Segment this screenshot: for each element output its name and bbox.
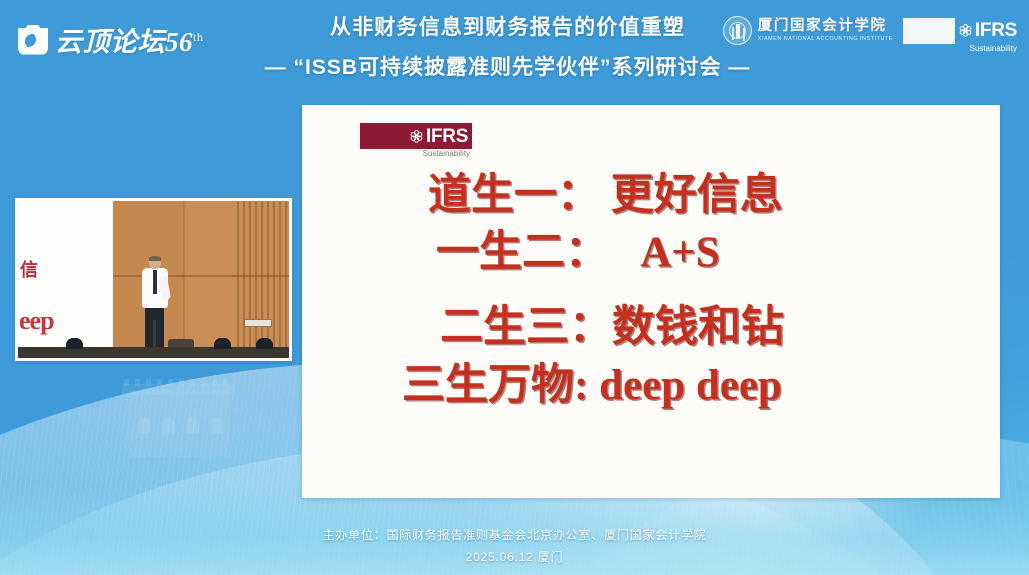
audience-head xyxy=(66,338,83,349)
presentation-video-thumbnail[interactable]: 信 eep xyxy=(15,198,292,361)
presentation-slide: IFRS Sustainability 道生一： 更好信息 一生二： A+S 二… xyxy=(302,105,1000,498)
ifrs-word: IFRS xyxy=(975,21,1017,40)
ifrs-flower-icon xyxy=(409,129,423,143)
ifrs-flower-icon xyxy=(958,24,972,38)
xnai-name-en: XIAMEN NATIONAL ACCOUNTING INSTITUTE xyxy=(758,36,893,42)
auditorium-floor xyxy=(18,347,289,358)
slide-line-4: 三生万物: deep deep xyxy=(302,357,1000,414)
event-footer: 主办单位：国际财务报告准则基金会北京办公室、厦门国家会计学院 2025.06.1… xyxy=(0,526,1029,565)
camera-logo-icon xyxy=(18,25,48,55)
wall-outlet xyxy=(244,319,272,327)
building-window xyxy=(186,417,199,434)
slide-line-3: 二生三：数钱和钻 xyxy=(302,299,1000,356)
building-window xyxy=(210,417,223,434)
slide-ifrs-logo: IFRS Sustainability xyxy=(360,123,472,149)
slide-line-1: 道生一： 更好信息 xyxy=(302,167,1000,224)
presentation-stage: 云顶论坛56th 从非财务信息到财务报告的价值重塑 — “ISSB可持续披露准则… xyxy=(0,0,1029,575)
institute-seal-icon xyxy=(723,16,752,45)
projected-text-bottom: eep xyxy=(19,306,54,336)
audience-head xyxy=(214,338,231,349)
speaker-tie xyxy=(153,270,157,294)
forum-brand-suffix: th xyxy=(193,30,203,44)
building-window xyxy=(162,417,175,434)
building-silhouette xyxy=(128,391,230,457)
header-logos: 厦门国家会计学院 XIAMEN NATIONAL ACCOUNTING INST… xyxy=(723,16,1019,45)
projection-screen: 信 eep xyxy=(18,201,113,353)
forum-brand-name: 云顶论坛56 xyxy=(55,27,193,57)
event-header: 云顶论坛56th 从非财务信息到财务报告的价值重塑 — “ISSB可持续披露准则… xyxy=(0,0,1029,96)
slide-ifrs-sustainability-label: Sustainability xyxy=(423,149,470,158)
speaker-figure xyxy=(138,256,172,356)
ifrs-logo-wordmark: IFRS Sustainability xyxy=(955,18,1019,44)
xnai-name-cn: 厦门国家会计学院 xyxy=(758,19,893,34)
xnai-logo-text: 厦门国家会计学院 XIAMEN NATIONAL ACCOUNTING INST… xyxy=(758,19,893,42)
building-window xyxy=(138,417,151,434)
ifrs-sustainability-logo: IFRS Sustainability xyxy=(903,18,1019,44)
slide-line-2: 一生二： A+S xyxy=(302,224,1000,281)
forum-brand: 云顶论坛56th xyxy=(18,20,203,59)
slide-ifrs-wordmark: IFRS Sustainability xyxy=(406,123,472,149)
slide-ifrs-word: IFRS xyxy=(426,127,468,146)
building-crenellation xyxy=(124,379,234,386)
forum-brand-label: 云顶论坛56th xyxy=(55,20,203,59)
organizer-line: 主办单位：国际财务报告准则基金会北京办公室、厦门国家会计学院 xyxy=(0,526,1029,543)
slide-body-text: 道生一： 更好信息 一生二： A+S 二生三：数钱和钻 三生万物: deep d… xyxy=(302,167,1000,414)
xnai-logo: 厦门国家会计学院 XIAMEN NATIONAL ACCOUNTING INST… xyxy=(723,16,893,45)
projected-text-top: 信 xyxy=(20,256,37,282)
date-location-line: 2025.06.12 厦门 xyxy=(0,548,1029,565)
ifrs-sustainability-label: Sustainability xyxy=(970,44,1017,53)
slide-ifrs-logo-block xyxy=(360,123,406,149)
ifrs-logo-block xyxy=(903,18,955,44)
speaker-hair xyxy=(149,256,161,261)
wall-slats xyxy=(233,201,289,353)
audience-head xyxy=(256,338,273,349)
